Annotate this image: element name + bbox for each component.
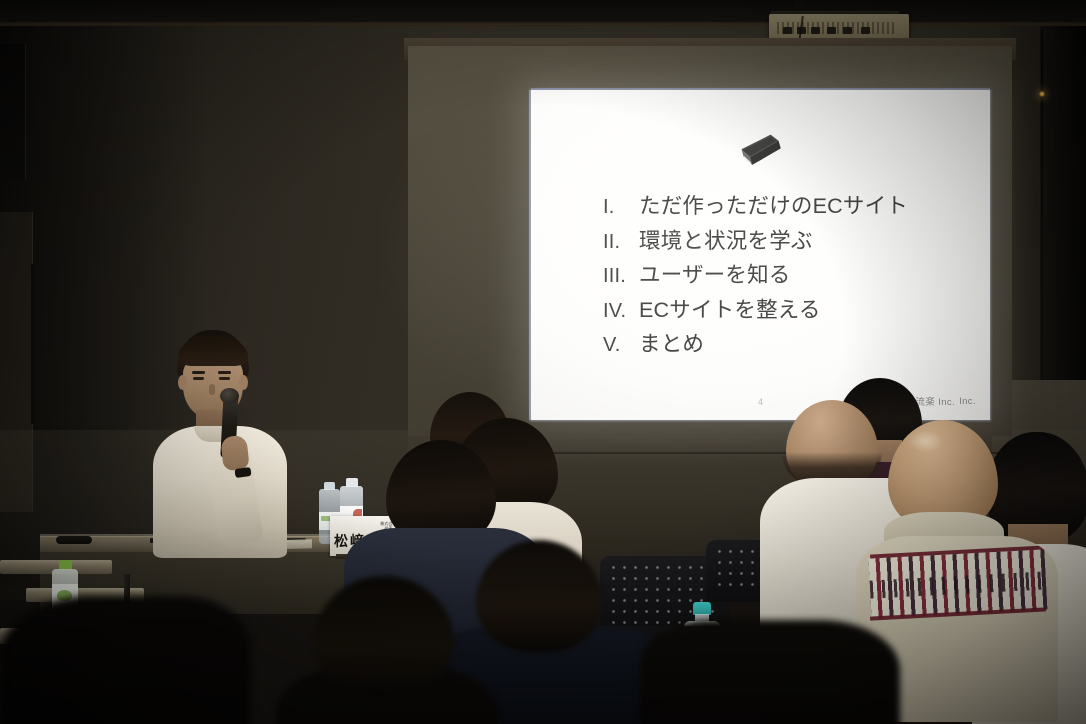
list-text: ユーザーを知る [639,259,790,293]
list-numeral: III. [603,260,639,294]
list-text: まとめ [639,328,704,362]
projector-vents [777,22,897,34]
silhouette-shape [0,596,250,724]
presenter-eye [193,377,204,380]
copyright-suffix: Inc. [959,396,976,407]
led-indicator-light [1039,91,1045,97]
projector-port [783,27,792,34]
silhouette-head [314,576,454,694]
list-item: III. ユーザーを知る [603,259,968,294]
presenter-hair-front [178,336,248,366]
list-item: IV. ECサイトを整える [603,294,968,329]
presenter-eye [219,377,230,380]
list-item: II. 環境と状況を学ぶ [603,225,968,260]
list-item: I. ただ作っただけのECサイト [603,190,968,225]
foreground-audience-member [276,576,496,724]
list-item: V. まとめ [603,328,968,363]
silhouette-shape [640,620,900,724]
agenda-list: I. ただ作っただけのECサイト II. 環境と状況を学ぶ III. ユーザーを… [603,190,968,363]
projector-port [827,27,836,34]
wall-panel [0,44,26,179]
presenter-nose [209,384,215,395]
presenter-ear [239,375,248,390]
projector-port [811,27,820,34]
head-highlight [908,430,942,452]
presenter-eyebrow [218,371,231,374]
foreground-silhouette [640,620,900,724]
slide-content: I. ただ作っただけのECサイト II. 環境と状況を学ぶ III. ユーザーを… [531,90,990,420]
closed-book-icon [735,132,787,172]
presenter-ear [178,375,187,390]
projector-port [861,27,870,34]
presenter-eyebrow [192,371,205,374]
wall-seam [1041,30,1043,410]
list-text: ECサイトを整える [639,294,821,328]
projector-port [843,27,852,34]
seminar-room-photo: I. ただ作っただけのECサイト II. 環境と状況を学ぶ III. ユーザーを… [0,0,1086,724]
list-numeral: V. [603,329,639,363]
presenter-person [150,330,290,550]
list-text: 環境と状況を学ぶ [639,225,813,259]
foreground-silhouette [0,596,250,724]
list-numeral: II. [603,226,639,260]
list-numeral: IV. [603,295,639,329]
projection-screen: I. ただ作っただけのECサイト II. 環境と状況を学ぶ III. ユーザーを… [531,90,990,420]
list-text: ただ作っただけのECサイト [639,190,908,224]
presenter-hand [220,435,249,472]
dark-object-on-table [56,536,92,544]
list-numeral: I. [603,191,639,225]
microphone-head [220,388,239,404]
